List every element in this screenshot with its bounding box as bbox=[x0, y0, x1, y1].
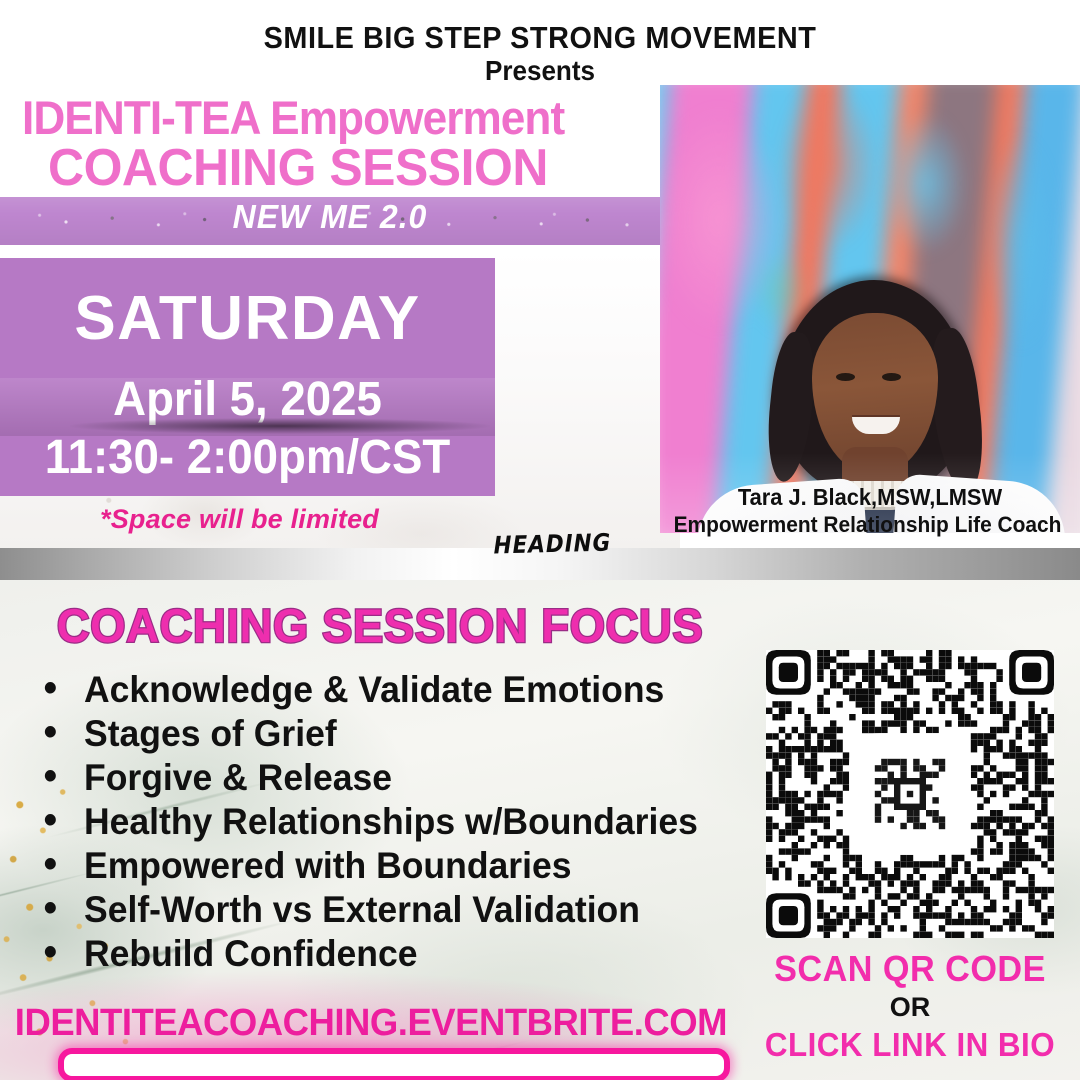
qr-code[interactable] bbox=[766, 650, 1054, 938]
space-limited-note: *Space will be limited bbox=[100, 504, 379, 535]
scan-qr-label: SCAN QR CODE bbox=[749, 948, 1072, 990]
subject-eye-left bbox=[836, 373, 855, 381]
heading-placeholder-text: HEADING bbox=[493, 528, 611, 559]
focus-list-item: Rebuild Confidence bbox=[36, 932, 727, 976]
focus-list-item: Self-Worth vs External Validation bbox=[36, 888, 727, 932]
event-day: SATURDAY bbox=[0, 283, 495, 354]
url-underline-bar bbox=[58, 1048, 730, 1080]
coach-name: Tara J. Black,MSW,LMSW bbox=[671, 484, 1070, 511]
coach-photo bbox=[660, 85, 1080, 533]
focus-heading: COACHING SESSION FOCUS bbox=[11, 598, 748, 653]
qr-code-canvas[interactable] bbox=[766, 650, 1054, 938]
focus-list: Acknowledge & Validate EmotionsStages of… bbox=[36, 668, 756, 976]
focus-list-item: Forgive & Release bbox=[36, 756, 727, 800]
event-url[interactable]: IDENTITEACOACHING.EVENTBRITE.COM bbox=[15, 1002, 725, 1045]
presents-label: Presents bbox=[38, 55, 1042, 87]
focus-list-item: Empowered with Boundaries bbox=[36, 844, 727, 888]
event-title-line1: IDENTI-TEA Empowerment bbox=[22, 90, 564, 145]
flyer-canvas: SMILE BIG STEP STRONG MOVEMENT Presents … bbox=[0, 0, 1080, 1080]
focus-list-item: Healthy Relationships w/Boundaries bbox=[36, 800, 727, 844]
subject-eye-right bbox=[882, 373, 901, 381]
focus-list-item: Acknowledge & Validate Emotions bbox=[36, 668, 727, 712]
organization-name: SMILE BIG STEP STRONG MOVEMENT bbox=[38, 20, 1042, 56]
click-link-in-bio-label: CLICK LINK IN BIO bbox=[749, 1026, 1072, 1064]
event-time: 11:30- 2:00pm/CST bbox=[12, 430, 482, 485]
coach-role: Empowerment Relationship Life Coach bbox=[666, 512, 1070, 538]
event-subtitle: NEW ME 2.0 bbox=[10, 198, 650, 236]
focus-list-item: Stages of Grief bbox=[36, 712, 727, 756]
or-label: OR bbox=[740, 992, 1080, 1023]
event-date: April 5, 2025 bbox=[12, 372, 482, 427]
event-title-line2: COACHING SESSION bbox=[48, 138, 548, 198]
